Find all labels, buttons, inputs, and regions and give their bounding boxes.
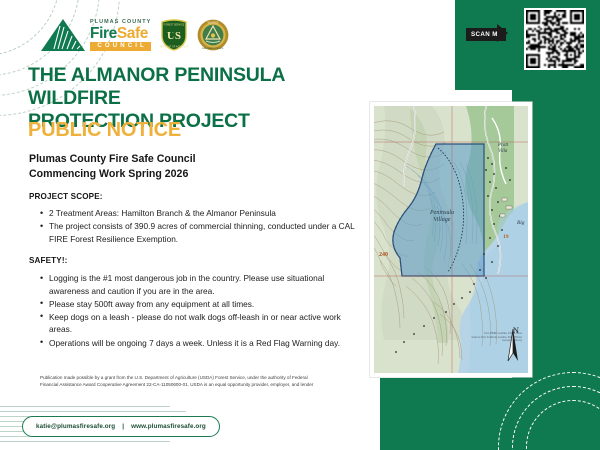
logo-row: PLUMAS COUNTY FireSafe COUNCIL US FOREST… bbox=[40, 12, 229, 58]
usda-forest-service-shield-icon: US FOREST SERVICE DEPARTMENT OF AGRICULT… bbox=[160, 19, 188, 51]
fsc-safe-word: Safe bbox=[117, 25, 148, 42]
fire-safe-council-logo: PLUMAS COUNTY FireSafe COUNCIL bbox=[40, 18, 151, 52]
safety-list: Logging is the #1 most dangerous job in … bbox=[40, 272, 365, 350]
map-image: PeninsulaVillage Almanor Peninsula Pratt… bbox=[374, 106, 528, 373]
title-line-1: THE ALMANOR PENINSULA WILDFIRE bbox=[28, 64, 373, 110]
triangle-trees-icon bbox=[40, 18, 86, 52]
safety-item: Please stay 500ft away from any equipmen… bbox=[40, 298, 365, 311]
poster-canvas: PLUMAS COUNTY FireSafe COUNCIL US FOREST… bbox=[0, 0, 600, 450]
usgs-topographic-map: PeninsulaVillage Almanor Peninsula Pratt… bbox=[370, 102, 532, 377]
sierra-nevada-conservancy-seal-icon: WILDFIRE FIRE SAFE COUNCIL bbox=[197, 19, 229, 51]
fsc-fire-word: Fire bbox=[90, 25, 117, 42]
svg-text:FIRE SAFE COUNCIL: FIRE SAFE COUNCIL bbox=[202, 47, 225, 50]
contact-email[interactable]: katie@plumasfiresafe.org bbox=[36, 423, 115, 430]
contact-website[interactable]: www.plumasfiresafe.org bbox=[131, 423, 206, 430]
right-arrow-icon bbox=[497, 24, 508, 42]
public-notice-heading: PUBLIC NOTICE bbox=[28, 119, 181, 142]
project-scope-list: 2 Treatment Areas: Hamilton Branch & the… bbox=[40, 207, 365, 246]
svg-text:FOREST SERVICE: FOREST SERVICE bbox=[164, 23, 185, 26]
qr-code-icon[interactable] bbox=[524, 8, 586, 70]
green-header-block bbox=[455, 0, 515, 90]
org-schedule: Commencing Work Spring 2026 bbox=[29, 167, 369, 182]
qr-code-canvas bbox=[526, 10, 584, 68]
north-arrow-icon bbox=[505, 329, 521, 363]
safety-heading: SAFETY!: bbox=[29, 256, 68, 265]
safety-item: Logging is the #1 most dangerous job in … bbox=[40, 272, 365, 297]
organization-block: Plumas County Fire Safe Council Commenci… bbox=[29, 152, 369, 182]
svg-text:WILDFIRE: WILDFIRE bbox=[208, 23, 219, 25]
project-scope-item: 2 Treatment Areas: Hamilton Branch & the… bbox=[40, 207, 365, 220]
contact-footer: katie@plumasfiresafe.org | www.plumasfir… bbox=[22, 416, 220, 437]
org-name: Plumas County Fire Safe Council bbox=[29, 152, 369, 167]
grant-disclaimer: Publication made possible by a grant fro… bbox=[40, 374, 320, 389]
contact-separator: | bbox=[122, 423, 124, 430]
project-scope-heading: PROJECT SCOPE: bbox=[29, 192, 103, 201]
safety-item: Keep dogs on a leash - please do not wal… bbox=[40, 311, 365, 336]
svg-text:DEPARTMENT OF AGRICULTURE: DEPARTMENT OF AGRICULTURE bbox=[160, 46, 188, 49]
safety-item: Operations will be ongoing 7 days a week… bbox=[40, 337, 365, 350]
fsc-council-text: COUNCIL bbox=[90, 42, 151, 51]
project-scope-item: The project consists of 390.9 acres of c… bbox=[40, 220, 365, 245]
